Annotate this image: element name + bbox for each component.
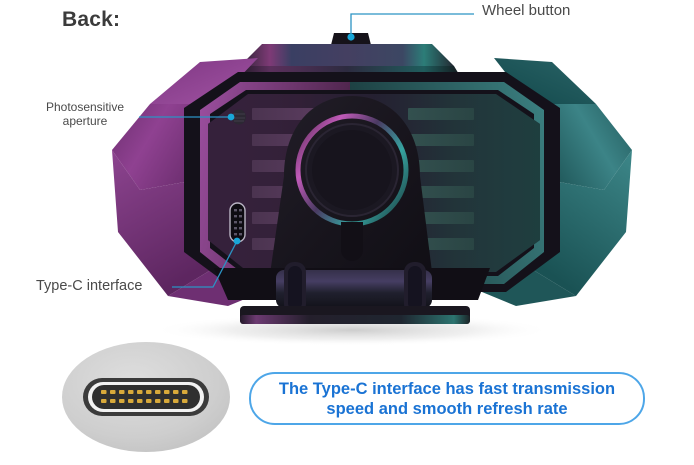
mount-tab (341, 222, 363, 261)
device-ground-shadow (152, 314, 552, 346)
mount-ring-outer (298, 116, 406, 224)
photosensitive-aperture-sensor (232, 110, 246, 125)
hinge-pillar-right (404, 262, 426, 314)
left-wing-top-facet (150, 58, 258, 104)
callout-label-photo-line2: aperture (33, 115, 137, 129)
feature-banner-text: The Type-C interface has fast transmissi… (265, 379, 629, 419)
mount-ring-inner (306, 124, 398, 216)
mount-lens (312, 130, 392, 210)
hinge-pillar-left (284, 262, 306, 314)
top-bar-group (234, 33, 460, 76)
feature-banner-line2: speed and smooth refresh rate (326, 400, 567, 418)
body-bevel-right (350, 82, 544, 284)
left-wing (112, 58, 262, 306)
right-wing-lower-facet (530, 150, 632, 296)
feature-banner-line1: The Type-C interface has fast transmissi… (279, 380, 615, 398)
leader-dot-typec (234, 238, 241, 245)
wheel-button (329, 33, 373, 53)
right-wing-top-facet (494, 58, 596, 104)
hinge-roller-group (276, 262, 432, 314)
connector-pins (101, 390, 188, 403)
body-skirt (214, 268, 490, 300)
left-wing-lower-facet (112, 150, 214, 296)
leader-dot-wheel (347, 33, 354, 40)
page-title: Back: (62, 8, 120, 32)
body-bevel-left (200, 82, 350, 284)
callout-label-wheel-button: Wheel button (482, 4, 570, 18)
leader-line-typec (172, 243, 236, 287)
vent-slats-left (252, 108, 318, 250)
base-plate (240, 306, 470, 324)
body-outer-shell (184, 72, 560, 292)
illustration-canvas: Back: Wheel button Photosensitive apertu… (0, 0, 694, 465)
leader-line-wheel (351, 14, 474, 36)
callout-label-type-c-interface: Type-C interface (36, 279, 142, 293)
vent-slats-right (408, 108, 474, 250)
usb-c-connector-closeup (62, 342, 230, 452)
body-inner-face-wash (208, 94, 540, 272)
right-wing-main-facet (530, 104, 632, 190)
top-bar-lip (234, 66, 460, 76)
right-wing-bottom-facet (482, 268, 576, 306)
right-wing (482, 58, 632, 306)
callout-label-photo-line1: Photosensitive (33, 101, 137, 115)
top-bar-face (240, 44, 454, 66)
body-inner-face (208, 94, 540, 272)
connector-mid-pill (88, 382, 204, 412)
callout-label-photosensitive-aperture: Photosensitive aperture (33, 101, 137, 128)
connector-shell (62, 342, 230, 452)
type-c-port-on-device (230, 203, 245, 242)
stand-mount-body (268, 96, 434, 288)
leader-dot-photo (228, 114, 235, 121)
connector-inner-cavity (92, 385, 200, 409)
left-wing-bottom-facet (168, 268, 262, 306)
feature-banner: The Type-C interface has fast transmissi… (249, 372, 645, 425)
connector-outer-pill (83, 378, 209, 416)
